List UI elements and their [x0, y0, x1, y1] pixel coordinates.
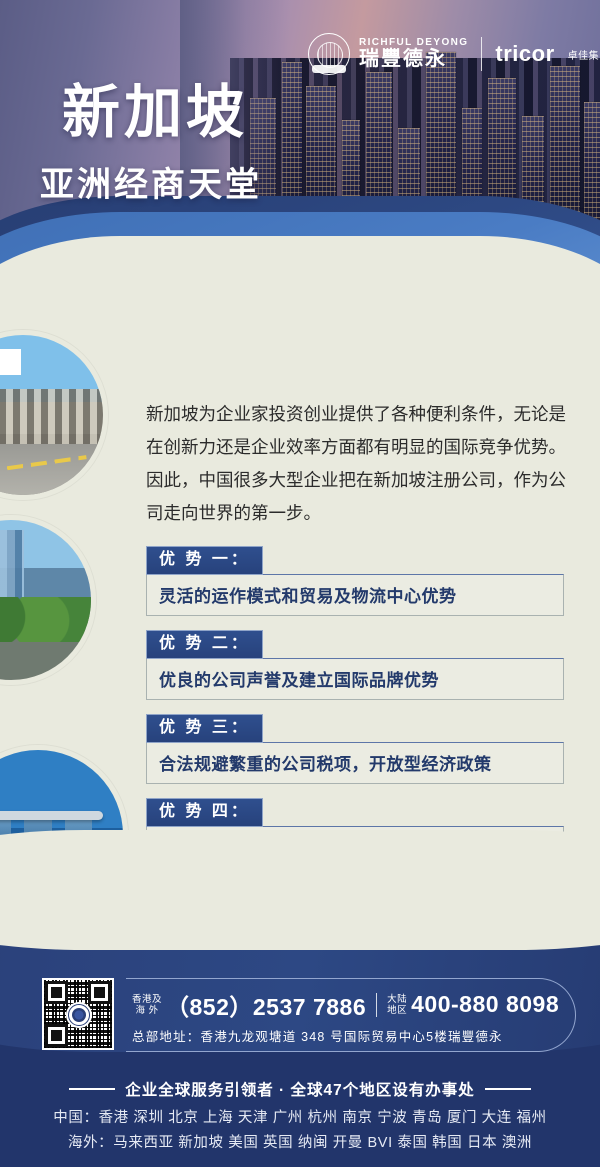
- advantage-text: 合法规避繁重的公司税项，开放型经济政策: [146, 742, 564, 784]
- shield-crest-icon: [308, 33, 350, 75]
- contact-details: 香港及 海 外 （852）2537 7886 大陆 地区 400-880 809…: [126, 978, 576, 1052]
- advantage-text: 优良的公司声誉及建立国际品牌优势: [146, 658, 564, 700]
- partner-chinese-name: 卓佳集團成員: [568, 47, 600, 62]
- phone-divider: [376, 993, 377, 1017]
- brand-english-name: RICHFUL DEYONG: [359, 37, 468, 48]
- tagline-text: 企业全球服务引领者 · 全球47个地区设有办事处: [125, 1078, 475, 1100]
- page-title: 新加坡: [62, 84, 248, 142]
- cn-phone-number[interactable]: 400-880 8098: [411, 991, 559, 1018]
- road-shape: [0, 444, 103, 495]
- cn-label-line2: 地区: [387, 1005, 407, 1016]
- regions-overseas: 海外：马来西亚 新加坡 美国 英国 纳闽 开曼 BVI 泰国 韩国 日本 澳洲: [0, 1131, 600, 1156]
- qr-finder-icon: [45, 981, 68, 1004]
- brand-chinese-name: 瑞豐德永: [359, 48, 468, 71]
- footer-wave-cream: [0, 830, 600, 950]
- brand-names: RICHFUL DEYONG 瑞豐德永: [359, 37, 468, 71]
- tree-shapes: [0, 597, 91, 642]
- office-regions: 中国：香港 深圳 北京 上海 天津 广州 杭州 南京 宁波 青岛 厦门 大连 福…: [0, 1106, 600, 1156]
- phone-row: 香港及 海 外 （852）2537 7886 大陆 地区 400-880 809…: [132, 988, 559, 1022]
- intro-paragraph: 新加坡为企业家投资创业提供了各种便利条件，无论是在创新力还是企业效率方面都有明显…: [146, 398, 566, 530]
- cn-phone-label: 大陆 地区: [387, 994, 407, 1016]
- advantage-label: 优 势 一：: [146, 546, 263, 575]
- advantage-text: 灵活的运作模式和贸易及物流中心优势: [146, 574, 564, 616]
- advantage-item: 优 势 三： 合法规避繁重的公司税项，开放型经济政策: [146, 714, 564, 784]
- shophouse-street-photo: [0, 330, 108, 500]
- rule-right: [485, 1088, 531, 1090]
- advantage-label: 优 势 二：: [146, 630, 263, 659]
- head-office-address: 总部地址：香港九龙观塘道 348 号国际贸易中心5楼瑞豐德永: [132, 1026, 559, 1045]
- advantage-label: 优 势 四：: [146, 798, 263, 827]
- contact-band: 香港及 海 外 （852）2537 7886 大陆 地区 400-880 809…: [42, 978, 558, 1052]
- qr-center-logo-icon: [68, 1004, 90, 1026]
- partner-name: tricor: [495, 41, 554, 67]
- qr-finder-icon: [88, 981, 111, 1004]
- poster-root: RICHFUL DEYONG 瑞豐德永 tricor 卓佳集團成員 新加坡 亚洲…: [0, 0, 600, 1167]
- brand-logo: RICHFUL DEYONG 瑞豐德永 tricor 卓佳集團成員: [308, 33, 600, 75]
- cn-label-line1: 大陆: [387, 994, 407, 1005]
- mbs-skypark: [0, 811, 103, 820]
- hk-label-line1: 香港及: [132, 994, 162, 1005]
- cloud-shape: [0, 349, 21, 375]
- footer-tagline: 企业全球服务引领者 · 全球47个地区设有办事处: [0, 1078, 600, 1100]
- hk-phone-number[interactable]: （852）2537 7886: [166, 988, 366, 1022]
- advantage-item: 优 势 二： 优良的公司声誉及建立国际品牌优势: [146, 630, 564, 700]
- city-greenery-photo: [0, 515, 96, 685]
- advantage-label: 优 势 三：: [146, 714, 263, 743]
- hk-label-line2: 海 外: [132, 1005, 162, 1016]
- advantage-item: 优 势 一： 灵活的运作模式和贸易及物流中心优势: [146, 546, 564, 616]
- hk-phone-label: 香港及 海 外: [132, 994, 162, 1016]
- regions-china: 中国：香港 深圳 北京 上海 天津 广州 杭州 南京 宁波 青岛 厦门 大连 福…: [0, 1106, 600, 1131]
- qr-code[interactable]: [42, 978, 114, 1050]
- brand-divider: [481, 37, 482, 71]
- rule-left: [69, 1088, 115, 1090]
- qr-finder-icon: [45, 1024, 68, 1047]
- page-subtitle: 亚洲经商天堂: [40, 168, 262, 202]
